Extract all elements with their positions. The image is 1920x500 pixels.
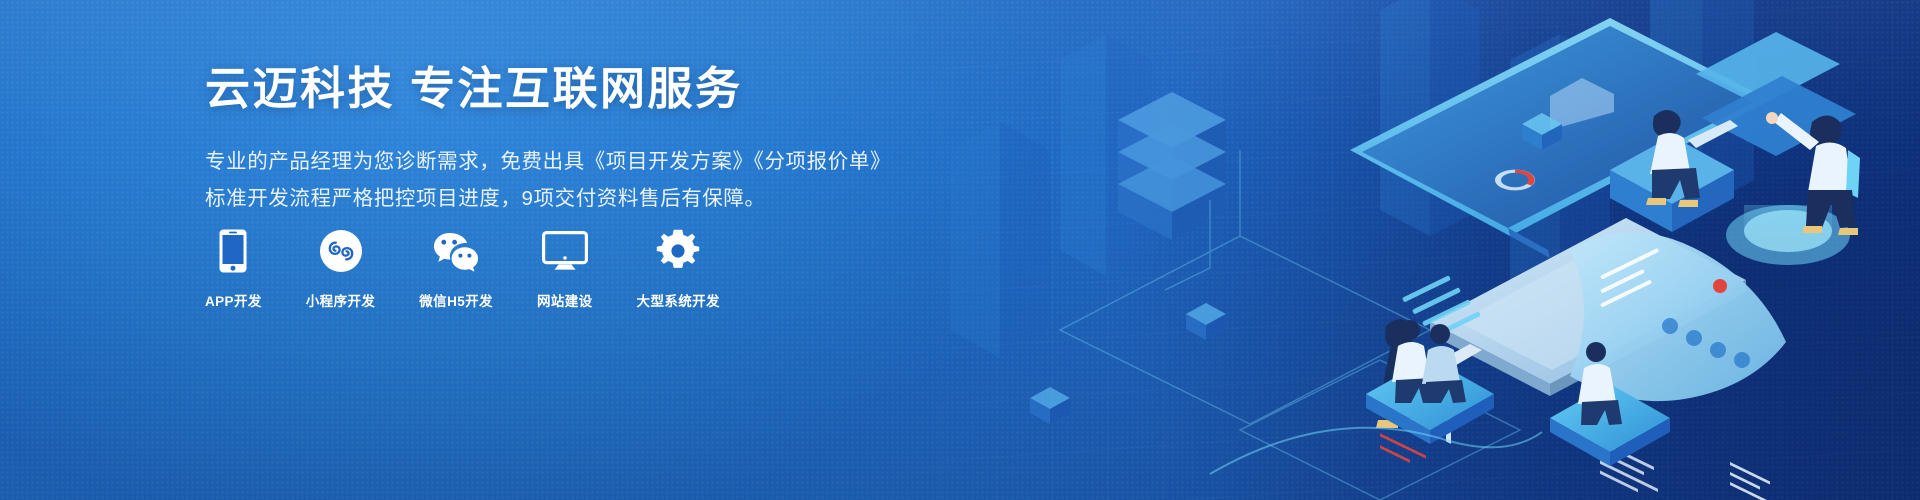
service-item-website[interactable]: 网站建设 [537, 228, 593, 310]
service-label-app: APP开发 [205, 290, 262, 310]
gear-icon [656, 228, 700, 274]
subtitle-line-1: 专业的产品经理为您诊断需求，免费出具《项目开发方案》《分项报价单》 [205, 144, 965, 179]
hero-banner: 云迈科技 专注互联网服务 专业的产品经理为您诊断需求，免费出具《项目开发方案》《… [0, 0, 1920, 500]
hero-text-block: 云迈科技 专注互联网服务 专业的产品经理为您诊断需求，免费出具《项目开发方案》《… [205, 64, 965, 216]
service-label-system: 大型系统开发 [637, 290, 720, 310]
page-title: 云迈科技 专注互联网服务 [205, 64, 965, 114]
mobile-phone-icon [219, 228, 247, 274]
subtitle-line-2: 标准开发流程严格把控项目进度，9项交付资料售后有保障。 [205, 181, 965, 216]
connector-line [1210, 428, 1542, 474]
wechat-icon [432, 228, 480, 274]
service-item-mini-program[interactable]: 小程序开发 [306, 228, 376, 310]
service-icon-row: APP开发 小程序开发 [205, 228, 720, 310]
service-item-system[interactable]: 大型系统开发 [637, 228, 720, 310]
mini-program-icon [320, 228, 362, 274]
service-label-wechat: 微信H5开发 [419, 290, 493, 310]
pedestal-glow [1726, 205, 1850, 265]
monitor-icon [542, 228, 588, 274]
service-item-wechat[interactable]: 微信H5开发 [419, 228, 493, 310]
service-item-app[interactable]: APP开发 [205, 228, 262, 310]
isometric-illustration [910, 0, 1920, 500]
service-label-website: 网站建设 [537, 290, 593, 310]
service-label-mini-program: 小程序开发 [306, 290, 376, 310]
